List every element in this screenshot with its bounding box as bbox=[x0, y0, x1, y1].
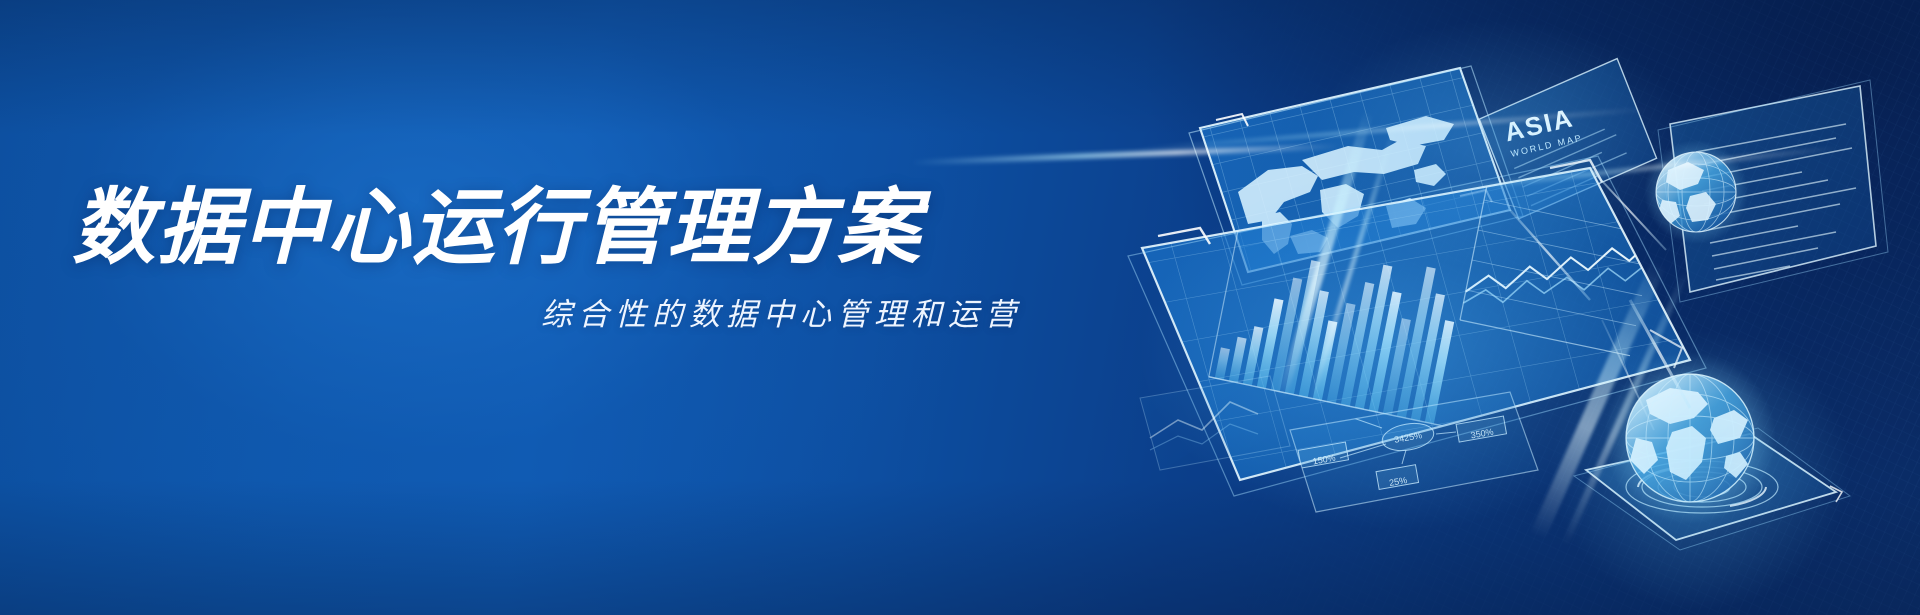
banner-text-block: 数据中心运行管理方案 综合性的数据中心管理和运营 bbox=[72, 186, 1032, 334]
banner-headline: 数据中心运行管理方案 bbox=[72, 186, 1032, 271]
hero-banner: ASIA WORLD MAP bbox=[0, 0, 1920, 615]
hologram-svg: ASIA WORLD MAP bbox=[990, 0, 1920, 615]
hologram-graphic: ASIA WORLD MAP bbox=[990, 0, 1920, 615]
small-globe bbox=[1644, 140, 1748, 244]
banner-subheadline: 综合性的数据中心管理和运营 bbox=[72, 289, 1032, 334]
